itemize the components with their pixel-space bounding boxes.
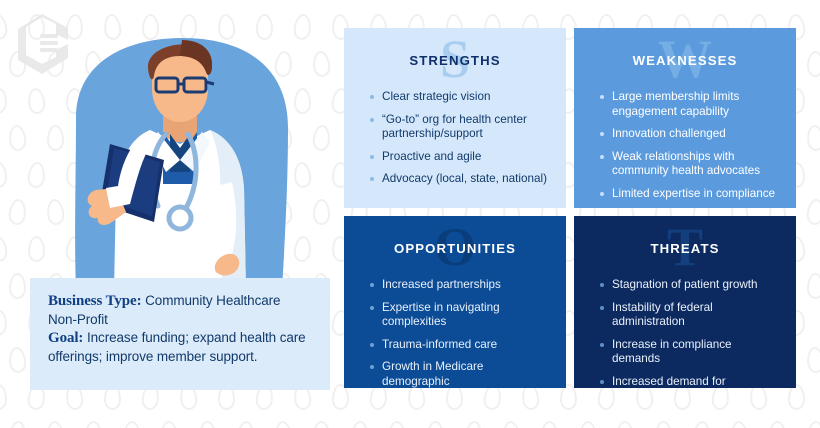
- watermark-dot: [122, 420, 142, 428]
- opportunities-title: OPPORTUNITIES: [394, 241, 516, 256]
- list-item: Innovation challenged: [600, 127, 782, 142]
- watermark-dot: [350, 420, 370, 428]
- watermark-dot: [46, 420, 66, 428]
- quadrant-weaknesses: W WEAKNESSES Large membership limits eng…: [574, 28, 796, 208]
- watermark-dot: [0, 235, 8, 263]
- watermark-dot: [8, 198, 28, 226]
- swot-infographic: Business Type: Community Healthcare Non-…: [0, 0, 820, 428]
- watermark-dot: [427, 421, 444, 428]
- opportunities-heading: O OPPORTUNITIES: [344, 222, 566, 274]
- business-type-line: Business Type: Community Healthcare Non-…: [48, 292, 312, 329]
- watermark-dot: [806, 420, 820, 428]
- list-item: Expertise in navigating complexities: [370, 301, 552, 330]
- strengths-list: Clear strategic vision “Go-to” org for h…: [344, 90, 566, 187]
- quadrant-strengths: S STRENGTHS Clear strategic vision “Go-t…: [344, 28, 566, 208]
- watermark-dot: [806, 346, 820, 374]
- watermark-dot: [769, 421, 786, 428]
- list-item: Stagnation of patient growth: [600, 278, 782, 293]
- watermark-dot: [806, 124, 820, 152]
- watermark-dot: [313, 421, 330, 428]
- list-item: Increase in compliance demands: [600, 338, 782, 367]
- goal-line: Goal: Increase funding; expand health ca…: [48, 329, 312, 366]
- quadrant-opportunities: O OPPORTUNITIES Increased partnerships E…: [344, 216, 566, 388]
- list-item: Limited expertise in compliance: [600, 187, 782, 202]
- watermark-dot: [8, 420, 28, 428]
- watermark-dot: [464, 420, 484, 428]
- list-item: Increased partnerships: [370, 278, 552, 293]
- watermark-dot: [388, 420, 408, 428]
- list-item: Advocacy (local, state, national): [370, 172, 552, 187]
- goal-label: Goal:: [48, 330, 83, 346]
- strengths-title: STRENGTHS: [409, 53, 500, 68]
- watermark-dot: [8, 346, 28, 374]
- weaknesses-list: Large membership limits engagement capab…: [574, 90, 796, 202]
- watermark-dot: [0, 87, 8, 115]
- threats-heading: T THREATS: [574, 222, 796, 274]
- weaknesses-heading: W WEAKNESSES: [574, 34, 796, 86]
- watermark-dot: [541, 421, 558, 428]
- watermark-dot: [807, 51, 820, 77]
- list-item: Clear strategic vision: [370, 90, 552, 105]
- watermark-dot: [160, 420, 180, 428]
- opportunities-list: Increased partnerships Expertise in navi…: [344, 278, 566, 388]
- list-item: Weak relationships with community health…: [600, 150, 782, 179]
- watermark-dot: [616, 420, 636, 428]
- weaknesses-title: WEAKNESSES: [633, 53, 738, 68]
- watermark-dot: [0, 162, 7, 188]
- threats-list: Stagnation of patient growth Instability…: [574, 278, 796, 388]
- watermark-dot: [85, 421, 102, 428]
- watermark-dot: [806, 198, 820, 226]
- watermark-dot: [730, 420, 750, 428]
- watermark-dot: [236, 420, 256, 428]
- list-item: “Go-to” org for health center partnershi…: [370, 113, 552, 142]
- list-item: Trauma-informed care: [370, 338, 552, 353]
- watermark-dot: [274, 420, 294, 428]
- watermark-dot: [0, 384, 7, 410]
- watermark-dot: [578, 420, 598, 428]
- list-item: Proactive and agile: [370, 150, 552, 165]
- strengths-heading: S STRENGTHS: [344, 34, 566, 86]
- watermark-dot: [807, 273, 820, 299]
- watermark-dot: [655, 421, 672, 428]
- business-info-box: Business Type: Community Healthcare Non-…: [30, 278, 330, 390]
- watermark-dot: [8, 124, 28, 152]
- watermark-dot: [9, 273, 26, 299]
- quadrant-threats: T THREATS Stagnation of patient growth I…: [574, 216, 796, 388]
- business-type-label: Business Type:: [48, 293, 142, 309]
- list-item: Large membership limits engagement capab…: [600, 90, 782, 119]
- doctor-illustration: [30, 22, 330, 290]
- watermark-dot: [0, 13, 8, 41]
- watermark-dot: [0, 309, 8, 337]
- watermark-dot: [199, 421, 216, 428]
- list-item: Increased demand for behavioral health s…: [600, 375, 782, 388]
- threats-title: THREATS: [651, 241, 720, 256]
- watermark-dot: [692, 420, 712, 428]
- goal-value: Increase funding; expand health care off…: [48, 330, 306, 364]
- watermark-dot: [502, 420, 522, 428]
- list-item: Growth in Medicare demographic: [370, 360, 552, 388]
- list-item: Instability of federal administration: [600, 301, 782, 330]
